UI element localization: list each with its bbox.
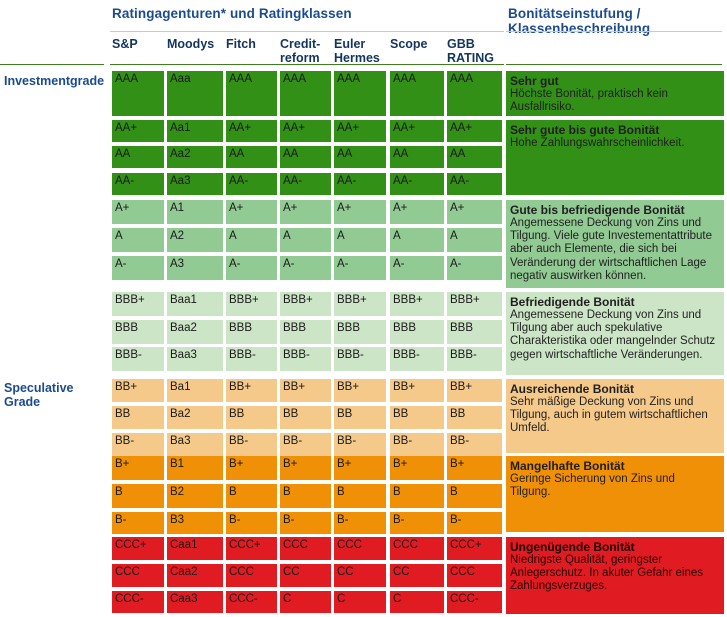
rating-cell[interactable]: BBB-	[280, 347, 331, 371]
col-scope-header[interactable]: Scope	[390, 38, 450, 52]
rating-cell[interactable]: B+	[334, 456, 386, 480]
description-cell-mangelhafte[interactable]: Mangelhafte BonitätGeringe Sicherung von…	[506, 456, 724, 532]
description-body: Angemessene Deckung von Zins und Tilgung…	[510, 217, 718, 283]
rating-cell[interactable]: Ba1	[167, 379, 223, 402]
rating-cell[interactable]: A-	[280, 256, 331, 280]
rating-cell[interactable]: BB+	[226, 379, 277, 402]
rating-cell[interactable]: B-	[280, 512, 331, 534]
description-body: Sehr mäßige Deckung von Zins und Tilgung…	[510, 396, 718, 436]
rating-cell[interactable]: CCC-	[226, 591, 277, 613]
description-cell-sehr-gute-bis-gute[interactable]: Sehr gute bis gute BonitätHohe Zahlungsw…	[506, 120, 724, 195]
rating-cell[interactable]: AA+	[390, 120, 444, 142]
rating-cell[interactable]: Aaa	[167, 71, 223, 116]
rating-cell[interactable]: AAA	[280, 71, 331, 116]
rating-cell[interactable]: BB-	[334, 433, 386, 456]
rating-cell[interactable]: CCC	[280, 537, 331, 560]
description-title: Ausreichende Bonität	[510, 382, 718, 396]
rating-cell[interactable]: B+	[226, 456, 277, 480]
rating-cell[interactable]: AA+	[447, 120, 502, 142]
col-euler-hermes-header-line: Euler	[334, 38, 392, 52]
rating-cell[interactable]: A-	[334, 256, 386, 280]
rating-cell[interactable]: AA	[447, 146, 502, 168]
rating-cell[interactable]: B+	[447, 456, 502, 480]
col-euler-hermes-header[interactable]: EulerHermes	[334, 38, 392, 65]
rating-cell[interactable]: CCC-	[447, 591, 502, 613]
rating-cell[interactable]: BB-	[280, 433, 331, 456]
rating-cell[interactable]: Aa3	[167, 173, 223, 195]
rating-cell[interactable]: BB-	[390, 433, 444, 456]
rating-cell[interactable]: BB	[226, 406, 277, 429]
col-sp-header-line: S&P	[112, 38, 170, 52]
rating-cell[interactable]: A-	[390, 256, 444, 280]
header-rule-left	[0, 64, 104, 65]
rating-cell[interactable]: B	[280, 484, 331, 508]
rating-cell[interactable]: CCC-	[112, 591, 164, 613]
description-body: Angemessene Deckung von Zins und Tilgung…	[510, 309, 718, 362]
rating-cell[interactable]: A	[280, 228, 331, 252]
description-title: Gute bis befriedigende Bonität	[510, 203, 718, 217]
rating-cell[interactable]: BB	[280, 406, 331, 429]
table-header: Ratingagenturen* und Ratingklassen Bonit…	[0, 0, 727, 66]
rating-cell[interactable]: B	[226, 484, 277, 508]
rating-cell[interactable]: BBB-	[390, 347, 444, 371]
rating-cell[interactable]: BB-	[447, 433, 502, 456]
description-cell-ungenuegende[interactable]: Ungenügende BonitätNiedrigste Qualität, …	[506, 537, 724, 614]
grade-label-investmentgrade: Investmentgrade	[4, 74, 108, 88]
rating-cell[interactable]: CCC	[447, 564, 502, 587]
rating-cell[interactable]: AA+	[280, 120, 331, 142]
rating-cell[interactable]: CCC+	[226, 537, 277, 560]
rating-cell[interactable]: A	[447, 228, 502, 252]
rating-cell[interactable]: BB+	[447, 379, 502, 402]
rating-cell[interactable]: BBB+	[112, 292, 164, 316]
rating-cell[interactable]: CC	[280, 564, 331, 587]
rating-cell[interactable]: AAA	[334, 71, 386, 116]
rating-cell[interactable]: B	[447, 484, 502, 508]
rating-cell[interactable]: Aa2	[167, 146, 223, 168]
rating-cell[interactable]: A-	[226, 256, 277, 280]
rating-cell[interactable]: AA	[226, 146, 277, 168]
rating-cell[interactable]: B-	[334, 512, 386, 534]
rating-cell[interactable]: A	[390, 228, 444, 252]
rating-cell[interactable]: BBB+	[390, 292, 444, 316]
rating-cell[interactable]: BBB	[112, 320, 164, 344]
rating-cell[interactable]: BBB	[334, 320, 386, 344]
rating-cell[interactable]: A1	[167, 200, 223, 224]
rating-comparison-table: Ratingagenturen* und Ratingklassen Bonit…	[0, 0, 727, 617]
rating-cell[interactable]: CC	[334, 564, 386, 587]
rating-cell[interactable]: A-	[112, 256, 164, 280]
rating-cell[interactable]: BBB	[226, 320, 277, 344]
rating-cell[interactable]: B-	[226, 512, 277, 534]
rating-cell[interactable]: BB	[447, 406, 502, 429]
rating-cell[interactable]: AAA	[112, 71, 164, 116]
col-gbb-rating-header-line: RATING	[447, 52, 508, 66]
rating-cell[interactable]: A3	[167, 256, 223, 280]
rating-cell[interactable]: A	[112, 228, 164, 252]
rating-cell[interactable]: B+	[112, 456, 164, 480]
rating-cell[interactable]: CCC+	[447, 537, 502, 560]
rating-cell[interactable]: AA	[112, 146, 164, 168]
header-rule-agencies-bottom	[110, 64, 504, 65]
col-scope-header-line: Scope	[390, 38, 450, 52]
col-euler-hermes-header-line: Hermes	[334, 52, 392, 66]
rating-cell[interactable]: B-	[390, 512, 444, 534]
rating-cell[interactable]: A-	[447, 256, 502, 280]
rating-cell[interactable]: AAA	[226, 71, 277, 116]
rating-cell[interactable]: BBB+	[447, 292, 502, 316]
rating-cell[interactable]: Baa2	[167, 320, 223, 344]
rating-cell[interactable]: Caa2	[167, 564, 223, 587]
rating-cell[interactable]: A+	[280, 200, 331, 224]
rating-cell[interactable]: BBB	[390, 320, 444, 344]
rating-cell[interactable]: Caa1	[167, 537, 223, 560]
grade-label-speculative: Speculative Grade	[4, 381, 108, 409]
description-cell-gute-bis-befriedigende[interactable]: Gute bis befriedigende BonitätAngemessen…	[506, 200, 724, 288]
description-title: Sehr gut	[510, 74, 718, 88]
rating-cell[interactable]: B+	[390, 456, 444, 480]
rating-cell[interactable]: A	[226, 228, 277, 252]
rating-cell[interactable]: AA	[280, 146, 331, 168]
col-gbb-rating-header-line: GBB	[447, 38, 508, 52]
rating-cell[interactable]: BB-	[226, 433, 277, 456]
rating-cell[interactable]: AA-	[334, 173, 386, 195]
rating-cell[interactable]: BB	[334, 406, 386, 429]
description-title: Mangelhafte Bonität	[510, 459, 718, 473]
rating-cell[interactable]: AA+	[334, 120, 386, 142]
rating-cell[interactable]: Baa3	[167, 347, 223, 371]
rating-cell[interactable]: AA+	[226, 120, 277, 142]
rating-cell[interactable]: C	[280, 591, 331, 613]
rating-cell[interactable]: AAA	[390, 71, 444, 116]
col-moodys-header-line: Moodys	[167, 38, 229, 52]
rating-cell[interactable]: B	[390, 484, 444, 508]
col-moodys-header[interactable]: Moodys	[167, 38, 229, 52]
rating-cell[interactable]: A2	[167, 228, 223, 252]
col-fitch-header[interactable]: Fitch	[226, 38, 283, 52]
rating-cell[interactable]: AA+	[112, 120, 164, 142]
rating-cell[interactable]: CCC	[112, 564, 164, 587]
rating-cell[interactable]: BB+	[280, 379, 331, 402]
col-creditreform-header-line: Credit-	[280, 38, 337, 52]
rating-cell[interactable]: Ba2	[167, 406, 223, 429]
rating-cell[interactable]: A+	[226, 200, 277, 224]
rating-cell[interactable]: CCC+	[112, 537, 164, 560]
rating-cell[interactable]: BBB-	[334, 347, 386, 371]
rating-cell[interactable]: CCC	[390, 537, 444, 560]
rating-cell[interactable]: BBB-	[226, 347, 277, 371]
rating-cell[interactable]: B+	[280, 456, 331, 480]
description-title: Befriedigende Bonität	[510, 295, 718, 309]
header-rule-agencies	[110, 31, 504, 32]
rating-cell[interactable]: A	[334, 228, 386, 252]
rating-cell[interactable]: Caa3	[167, 591, 223, 613]
description-body: Hohe Zahlungswahrscheinlichkeit.	[510, 137, 718, 150]
col-creditreform-header[interactable]: Credit-reform	[280, 38, 337, 65]
description-cell-befriedigende[interactable]: Befriedigende BonitätAngemessene Deckung…	[506, 292, 724, 375]
description-cell-sehr-gut[interactable]: Sehr gutHöchste Bonität, praktisch kein …	[506, 71, 724, 116]
rating-cell[interactable]: C	[334, 591, 386, 613]
rating-cell[interactable]: AA	[390, 146, 444, 168]
rating-cell[interactable]: BBB-	[447, 347, 502, 371]
rating-cell[interactable]: AA	[334, 146, 386, 168]
rating-cell[interactable]: B-	[447, 512, 502, 534]
rating-cell[interactable]: AA-	[390, 173, 444, 195]
rating-cell[interactable]: A+	[334, 200, 386, 224]
rating-cell[interactable]: B	[334, 484, 386, 508]
rating-cell[interactable]: AA-	[112, 173, 164, 195]
rating-cell[interactable]: C	[390, 591, 444, 613]
rating-cell[interactable]: BB+	[334, 379, 386, 402]
rating-cell[interactable]: B3	[167, 512, 223, 534]
description-cell-ausreichende[interactable]: Ausreichende BonitätSehr mäßige Deckung …	[506, 379, 724, 453]
header-rule-description-bottom	[506, 64, 722, 65]
rating-cell[interactable]: CCC	[334, 537, 386, 560]
col-gbb-rating-header[interactable]: GBBRATING	[447, 38, 508, 65]
rating-cell[interactable]: AA-	[447, 173, 502, 195]
rating-cell[interactable]: A+	[112, 200, 164, 224]
rating-cell[interactable]: AAA	[447, 71, 502, 116]
rating-cell[interactable]: Aa1	[167, 120, 223, 142]
rating-cell[interactable]: CCC	[226, 564, 277, 587]
rating-cell[interactable]: Baa1	[167, 292, 223, 316]
rating-cell[interactable]: BBB-	[112, 347, 164, 371]
rating-cell[interactable]: A+	[447, 200, 502, 224]
rating-cell[interactable]: BBB+	[334, 292, 386, 316]
rating-cell[interactable]: AA-	[280, 173, 331, 195]
rating-cell[interactable]: B2	[167, 484, 223, 508]
rating-cell[interactable]: BB+	[112, 379, 164, 402]
col-fitch-header-line: Fitch	[226, 38, 283, 52]
rating-cell[interactable]: BBB	[447, 320, 502, 344]
description-title: Sehr gute bis gute Bonität	[510, 123, 718, 137]
description-body: Niedrigste Qualität, geringster Anlegers…	[510, 554, 718, 594]
rating-cell[interactable]: BB	[390, 406, 444, 429]
rating-cell[interactable]: B-	[112, 512, 164, 534]
rating-cell[interactable]: CC	[390, 564, 444, 587]
rating-cell[interactable]: BBB	[280, 320, 331, 344]
rating-cell[interactable]: B1	[167, 456, 223, 480]
description-body: Geringe Sicherung von Zins und Tilgung.	[510, 473, 718, 499]
agencies-group-title: Ratingagenturen* und Ratingklassen	[112, 6, 502, 21]
description-title: Ungenügende Bonität	[510, 540, 718, 554]
col-creditreform-header-line: reform	[280, 52, 337, 66]
description-body: Höchste Bonität, praktisch kein Ausfallr…	[510, 88, 718, 114]
rating-cell[interactable]: BB+	[390, 379, 444, 402]
rating-cell[interactable]: BBB+	[226, 292, 277, 316]
header-rule-description	[506, 31, 722, 32]
rating-cell[interactable]: Ba3	[167, 433, 223, 456]
rating-cell[interactable]: AA-	[226, 173, 277, 195]
rating-cell[interactable]: A+	[390, 200, 444, 224]
rating-cell[interactable]: BBB+	[280, 292, 331, 316]
rating-cell[interactable]: BB	[112, 406, 164, 429]
rating-cell[interactable]: B	[112, 484, 164, 508]
col-sp-header[interactable]: S&P	[112, 38, 170, 52]
rating-cell[interactable]: BB-	[112, 433, 164, 456]
